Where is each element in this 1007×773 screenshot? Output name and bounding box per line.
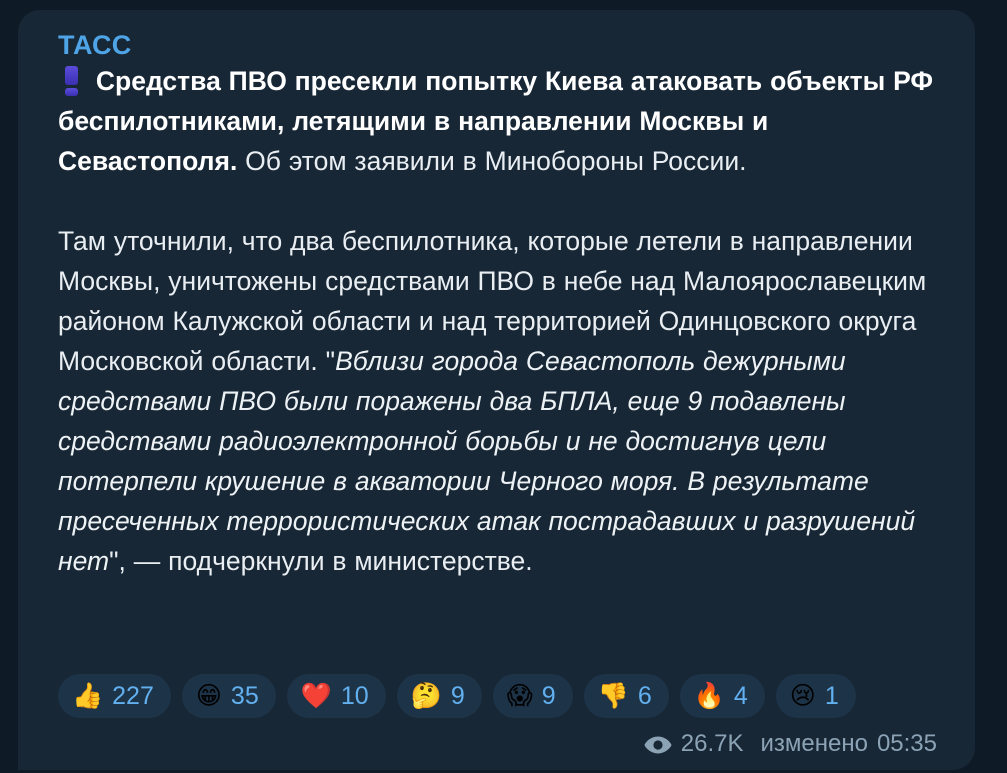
- crying-face-reaction[interactable]: 😢 1: [776, 674, 856, 718]
- edited-label: изменено: [760, 730, 867, 758]
- screaming-face-icon: 😱: [507, 681, 533, 711]
- grinning-face-reaction[interactable]: 😁 35: [182, 674, 276, 718]
- thumbs-up-icon: 👍: [72, 681, 103, 711]
- reaction-count: 35: [231, 681, 259, 711]
- thumbs-down-reaction[interactable]: 👎 6: [584, 674, 669, 718]
- eye-icon: [644, 734, 672, 754]
- thumbs-down-icon: 👎: [598, 681, 629, 711]
- thumbs-up-reaction[interactable]: 👍 227: [58, 674, 171, 718]
- message-bubble[interactable]: ТАСС Средства ПВО пресекли попытку Киева…: [18, 10, 975, 770]
- views-count: 26.7K: [681, 730, 744, 758]
- message-time: 05:35: [877, 730, 937, 758]
- message-body: Средства ПВО пресекли попытку Киева атак…: [58, 61, 951, 581]
- channel-name[interactable]: ТАСС: [58, 32, 951, 59]
- grinning-face-icon: 😁: [196, 681, 222, 711]
- reaction-count: 4: [734, 681, 748, 711]
- exclamation-mark-emoji: [58, 66, 84, 96]
- telegram-message-screen: ТАСС Средства ПВО пресекли попытку Киева…: [0, 0, 1007, 773]
- fire-icon: 🔥: [694, 681, 725, 711]
- body-text-end: ", — подчеркнули в министерстве.: [109, 546, 533, 576]
- reaction-count: 6: [638, 681, 652, 711]
- screaming-face-reaction[interactable]: 😱 9: [493, 674, 573, 718]
- reaction-count: 1: [825, 681, 839, 711]
- reaction-count: 10: [341, 681, 369, 711]
- reaction-count: 9: [451, 681, 465, 711]
- reaction-count: 9: [542, 681, 556, 711]
- headline-rest-text: Об этом заявили в Минобороны России.: [237, 146, 746, 176]
- thinking-face-icon: 🤔: [411, 681, 442, 711]
- red-heart-icon: ❤️: [301, 681, 332, 711]
- message-footer: 26.7K изменено 05:35: [644, 730, 937, 758]
- reaction-count: 227: [112, 681, 154, 711]
- reactions-row: 👍 227 😁 35 ❤️ 10 🤔 9 😱 9 👎 6: [58, 674, 856, 718]
- paragraph-spacer: [58, 181, 951, 221]
- quoted-italic-text: Вблизи города Севастополь дежурными сред…: [58, 346, 915, 576]
- thinking-face-reaction[interactable]: 🤔 9: [397, 674, 482, 718]
- red-heart-reaction[interactable]: ❤️ 10: [287, 674, 386, 718]
- fire-reaction[interactable]: 🔥 4: [680, 674, 765, 718]
- crying-face-icon: 😢: [790, 681, 816, 711]
